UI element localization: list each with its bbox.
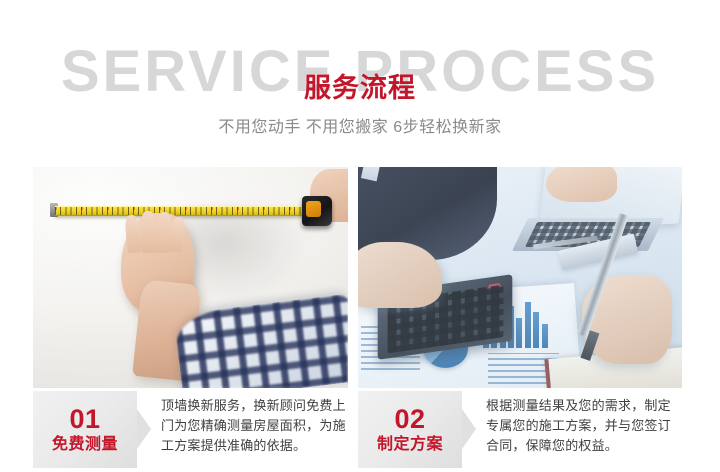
page-subtitle: 不用您动手 不用您搬家 6步轻松换新家	[0, 113, 720, 137]
tape-measure-blade	[55, 206, 307, 216]
step-badge-02: 02 制定方案	[358, 391, 462, 468]
finger	[140, 211, 156, 253]
step-card-01: 01 免费测量 顶墙换新服务，换新顾问免费上门为您精确测量房屋面积，为施工方案提…	[33, 391, 348, 468]
step-card-02: 02 制定方案 根据测量结果及您的需求，制定专属您的施工方案，并与您签订合同，保…	[358, 391, 682, 468]
step-description: 顶墙换新服务，换新顾问免费上门为您精确测量房屋面积，为施工方案提供准确的依据。	[161, 396, 348, 455]
step-number: 02	[394, 405, 425, 433]
step-badge-01: 01 免费测量	[33, 391, 137, 468]
step-number: 01	[69, 405, 100, 433]
step-description: 根据测量结果及您的需求，制定专属您的施工方案，并与您签订合同，保障您的权益。	[486, 396, 682, 455]
chevron-right-icon	[462, 409, 476, 449]
photo-business-desk	[358, 167, 682, 388]
photo-tape-measure-on-wall	[33, 167, 348, 388]
tape-measure-case	[302, 196, 332, 226]
tape-major-marks	[55, 207, 307, 211]
step-label: 制定方案	[377, 435, 443, 454]
step-label: 免费测量	[52, 435, 118, 454]
wall-shadow	[184, 207, 316, 309]
chevron-right-icon	[137, 409, 151, 449]
photo-color-wash	[358, 167, 682, 388]
page-title: 服务流程	[0, 74, 720, 102]
page-header: SERVICE PROCESS 服务流程 不用您动手 不用您搬家 6步轻松换新家	[0, 0, 720, 155]
